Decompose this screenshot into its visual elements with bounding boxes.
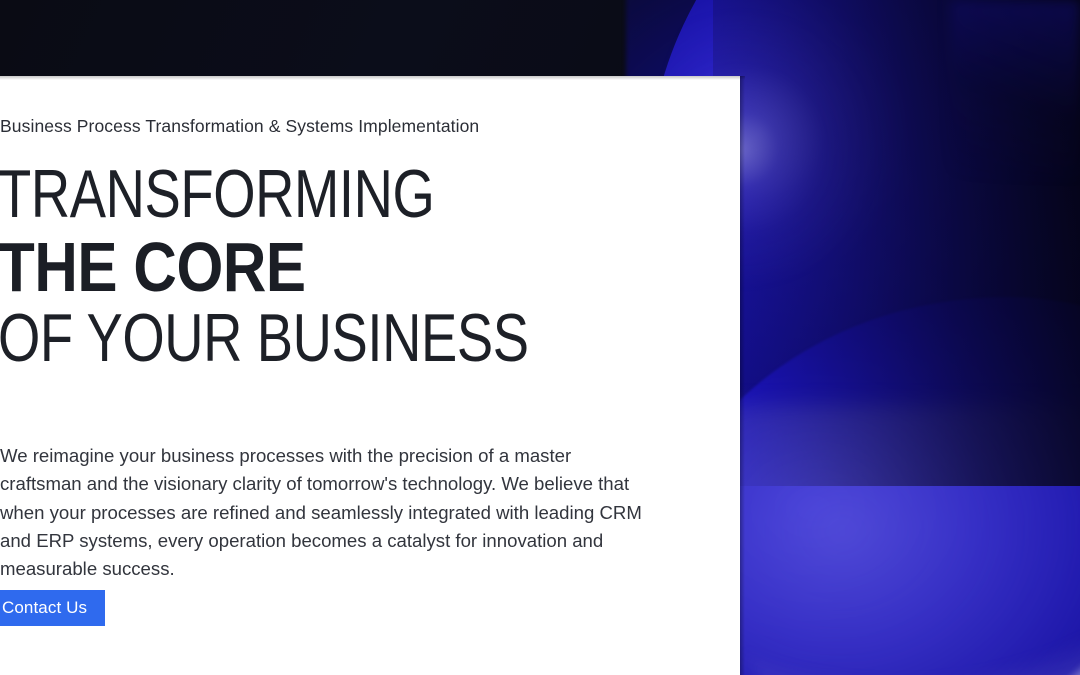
headline-line-1: TRANSFORMING	[0, 162, 574, 228]
hero-headline: TRANSFORMING THE CORE OF YOUR BUSINESS	[0, 162, 718, 372]
hero-section: Business Process Transformation & System…	[0, 0, 1080, 675]
headline-line-2: THE CORE	[0, 228, 617, 306]
contact-us-button[interactable]: Contact Us	[0, 590, 105, 626]
hero-content-card: Business Process Transformation & System…	[0, 76, 740, 675]
hero-description-paragraph: We reimagine your business processes wit…	[0, 442, 650, 583]
hero-eyebrow-text: Business Process Transformation & System…	[0, 116, 479, 137]
headline-line-3: OF YOUR BUSINESS	[0, 306, 574, 372]
top-right-blue-sliver	[950, 0, 1080, 176]
hero-content-inner: Business Process Transformation & System…	[0, 76, 740, 675]
